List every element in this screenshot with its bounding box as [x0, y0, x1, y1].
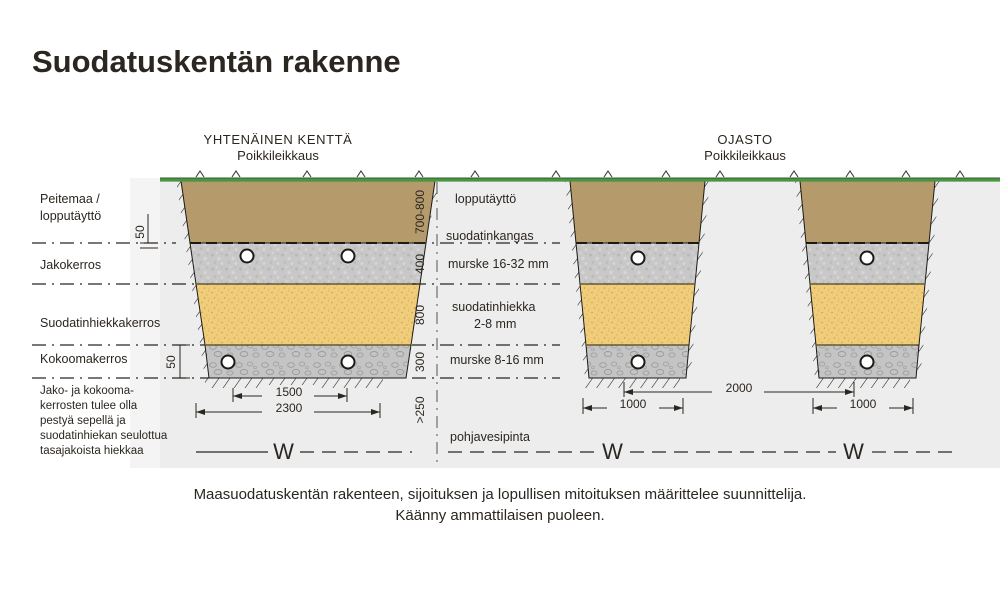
- dim-right-trench-b-value: 1000: [850, 397, 877, 411]
- center-label-murske1632: murske 16-32 mm: [448, 257, 549, 271]
- layer-suodatinhiekka-b: [810, 284, 925, 345]
- center-label-pohjavesipinta: pohjavesipinta: [450, 430, 530, 444]
- note-line-3: pestyä sepellä ja: [40, 415, 126, 427]
- layer-lopputaytto-left: [181, 181, 435, 243]
- center-label-murske816: murske 8-16 mm: [450, 353, 544, 367]
- heading-right-line2: Poikkileikkaus: [704, 148, 786, 163]
- label-suodatinhiekkakerros: Suodatinhiekkakerros: [40, 316, 160, 330]
- groundwater-symbol: W: [273, 439, 295, 464]
- thickness-lopputaytto: 700-800: [413, 190, 427, 234]
- right-trench-b: [800, 181, 935, 378]
- right-trench-a: [570, 181, 705, 378]
- caption-line-1: Maasuodatuskentän rakenteen, sijoituksen…: [194, 486, 807, 503]
- dim-right-span-value: 2000: [726, 381, 753, 395]
- layer-murske816-left: [205, 345, 411, 378]
- ground-surface-line: [160, 171, 1000, 180]
- heading-right-line1: OJASTO: [717, 132, 772, 147]
- heading-left-line2: Poikkileikkaus: [237, 148, 319, 163]
- layer-murske1632-left: [190, 243, 426, 284]
- center-label-suodatinkangas: suodatinkangas: [446, 229, 534, 243]
- label-peitemaa-line2: lopputäyttö: [40, 209, 101, 223]
- note-line-5: tasajakoista hiekkaa: [40, 445, 144, 457]
- distribution-pipe: [342, 250, 355, 263]
- note-line-1: Jako- ja kokooma-: [40, 385, 134, 397]
- center-label-lopputaytto: lopputäyttö: [455, 192, 516, 206]
- distribution-pipe: [241, 250, 254, 263]
- heading-left-line1: YHTENÄINEN KENTTÄ: [204, 132, 353, 147]
- thickness-murske1632: 400: [413, 254, 427, 274]
- label-peitemaa-line1: Peitemaa /: [40, 192, 100, 206]
- dim-right-trench-a-value: 1000: [620, 397, 647, 411]
- left-trench: [181, 181, 435, 378]
- collection-pipe: [632, 356, 645, 369]
- caption-line-2: Käänny ammattilaisen puoleen.: [395, 507, 604, 524]
- center-label-suodatinhiekka-2: 2-8 mm: [474, 317, 516, 331]
- thickness-pohjavesi: >250: [413, 396, 427, 423]
- groundwater-symbol: W: [843, 439, 865, 464]
- thickness-murske816: 300: [413, 352, 427, 372]
- collection-pipe: [342, 356, 355, 369]
- collection-pipe: [861, 356, 874, 369]
- small-dim-top-value: 50: [133, 225, 147, 239]
- dim-left-inner-value: 1500: [276, 385, 303, 399]
- thickness-suodatinhiekka: 800: [413, 305, 427, 325]
- label-kokoomakerros: Kokoomakerros: [40, 352, 128, 366]
- layer-lopputaytto-b: [800, 181, 935, 243]
- note-line-2: kerrosten tulee olla: [40, 400, 138, 412]
- layer-suodatinhiekka-left: [196, 284, 420, 345]
- distribution-pipe: [632, 252, 645, 265]
- diagram-canvas: Suodatuskentän rakenne YHTENÄINEN KENTTÄ…: [0, 0, 1000, 606]
- layer-lopputaytto-a: [570, 181, 705, 243]
- dim-left-outer-value: 2300: [276, 401, 303, 415]
- center-label-suodatinhiekka: suodatinhiekka: [452, 300, 535, 314]
- page-title: Suodatuskentän rakenne: [32, 44, 401, 79]
- distribution-pipe: [861, 252, 874, 265]
- groundwater-symbol: W: [602, 439, 624, 464]
- note-line-4: suodatinhiekan seulottua: [40, 430, 168, 442]
- label-jakokerros: Jakokerros: [40, 258, 101, 272]
- collection-pipe: [222, 356, 235, 369]
- small-dim-bottom-value: 50: [164, 355, 178, 369]
- layer-suodatinhiekka-a: [580, 284, 695, 345]
